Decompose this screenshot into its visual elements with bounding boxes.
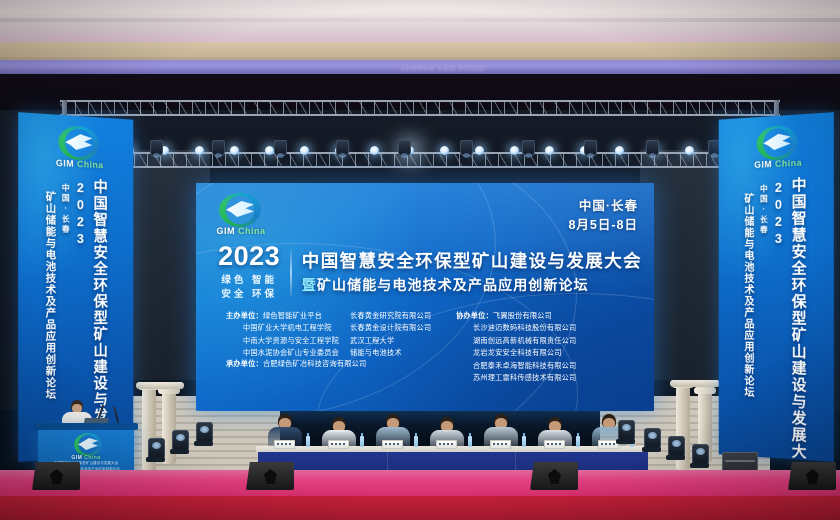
event-location: 中国·长春 xyxy=(568,197,638,216)
conference-sub-title-row: 暨矿山储能与电池技术及产品应用创新论坛 xyxy=(302,277,642,295)
floor-light-base xyxy=(170,449,189,454)
floor-moving-head xyxy=(172,430,189,451)
floor-light-base xyxy=(616,439,635,444)
banner-right-year: 2023 xyxy=(771,180,786,454)
conference-stage-photo: YAMAHA PRO AUDIO GIM China 中国智慧安全环保型矿山建设… xyxy=(0,0,840,520)
host-org-3: 中国水泥协会矿山专业委员会 xyxy=(226,347,350,359)
co-host-org-0: 飞翼股份有限公司 xyxy=(493,311,552,320)
floor-light-base xyxy=(642,447,661,452)
floor-light-base xyxy=(194,441,213,446)
banner-left-subtitle: 矿山储能与电池技术及产品应用创新论坛 xyxy=(43,191,58,455)
floor-moving-head xyxy=(644,428,661,449)
name-plate xyxy=(328,440,349,449)
water-bottle xyxy=(468,436,472,447)
floor-moving-head xyxy=(668,436,685,457)
truss-moving-head xyxy=(522,140,535,156)
truss-moving-head xyxy=(150,140,163,156)
floor-moving-head xyxy=(196,422,213,443)
event-location-date: 中国·长春 8月5日-8日 xyxy=(568,197,638,236)
year-block: 2023 绿色 智能 安全 环保 xyxy=(218,243,280,303)
co-host-org-3: 龙岩龙安安全科技有限公司 xyxy=(456,347,634,359)
red-carpet-foreground xyxy=(0,496,840,520)
name-plate xyxy=(544,440,565,449)
water-bottle xyxy=(576,436,580,447)
water-bottle xyxy=(522,436,526,447)
co-host-org-5: 苏州理工雷科传感技术有限公司 xyxy=(456,372,634,384)
organizers-block: 主办单位：绿色智能矿业平台 中国矿业大学机电工程学院 中南大学资源与安全工程学院… xyxy=(226,310,634,384)
stage-monitor-speaker-4 xyxy=(788,462,836,490)
gim-logo-icon-podium: GIM China xyxy=(68,433,104,463)
co-host-label: 协办单位： xyxy=(456,311,493,320)
title-divider xyxy=(290,250,291,296)
vertical-banner-right: GIM China 中国智慧安全环保型矿山建设与发展大会 2023 中国·长春 … xyxy=(719,112,834,462)
host-org-0: 绿色智能矿业平台 xyxy=(263,311,322,320)
stage-monitor-speaker-1 xyxy=(32,462,80,490)
floor-light-base xyxy=(666,455,685,460)
main-led-screen: GIM China 中国·长春 8月5日-8日 2023 绿色 智能 安全 环保… xyxy=(196,183,654,411)
gim-logo-icon-screen: GIM China xyxy=(212,193,270,241)
stage-floor-carpet xyxy=(0,470,840,496)
event-dates: 8月5日-8日 xyxy=(568,216,638,235)
gim-logo-icon-right-banner: GIM China xyxy=(750,124,801,171)
name-plate xyxy=(436,440,457,449)
stage-monitor-speaker-2 xyxy=(246,462,294,490)
truss-moving-head xyxy=(584,140,597,156)
organizers-column-1: 主办单位：绿色智能矿业平台 中国矿业大学机电工程学院 中南大学资源与安全工程学院… xyxy=(226,310,350,384)
water-bottle xyxy=(360,436,364,447)
name-plate xyxy=(382,440,403,449)
undertaker-org: 合肥绿色矿冶科技咨询有限公司 xyxy=(263,359,366,368)
floor-moving-head xyxy=(148,438,165,459)
host-label: 主办单位： xyxy=(226,311,263,320)
stage-monitor-speaker-3 xyxy=(530,462,578,490)
organizers-column-3: 协办单位：飞翼股份有限公司 长沙迪迈数码科技股份有限公司 湖南创远高新机械有限责… xyxy=(456,310,634,384)
floor-light-base xyxy=(690,463,709,468)
balustrade-rail-right xyxy=(670,380,720,387)
truss-moving-head xyxy=(398,140,411,156)
host-org-4: 长春黄金研究院有限公司 xyxy=(350,310,456,322)
event-year: 2023 xyxy=(218,243,280,270)
co-host-org-4: 合肥泰禾卓海智能科技有限公司 xyxy=(456,360,634,372)
truss-moving-head xyxy=(212,140,225,156)
slogan-line-1: 绿色 智能 xyxy=(218,274,280,288)
undertaker-label: 承办单位： xyxy=(226,359,263,368)
name-plate xyxy=(490,440,511,449)
floor-light-base xyxy=(146,457,165,462)
water-bottle xyxy=(306,436,310,447)
banner-right-location: 中国·长春 xyxy=(759,184,770,452)
floor-moving-head xyxy=(692,444,709,465)
host-org-6: 武汉工程大学 xyxy=(350,335,456,347)
co-host-org-1: 长沙迪迈数码科技股份有限公司 xyxy=(456,322,634,334)
water-bottle xyxy=(414,436,418,447)
gim-logo-icon-left-banner: GIM China xyxy=(51,124,102,171)
organizers-column-2: 长春黄金研究院有限公司 长春黄金设计院有限公司 武汉工程大学 储能与电池技术 xyxy=(350,310,456,384)
co-host-org-2: 湖南创远高新机械有限责任公司 xyxy=(456,335,634,347)
truss-moving-head xyxy=(274,140,287,156)
truss-moving-head xyxy=(460,140,473,156)
host-org-7: 储能与电池技术 xyxy=(350,347,456,359)
balustrade-rail-left xyxy=(136,382,184,389)
screen-title-row: 2023 绿色 智能 安全 环保 中国智慧安全环保型矿山建设与发展大会 暨矿山储… xyxy=(218,243,642,303)
floor-moving-head xyxy=(618,420,635,441)
slogan-line-2: 安全 环保 xyxy=(218,288,280,302)
conference-main-title: 中国智慧安全环保型矿山建设与发展大会 xyxy=(302,251,642,273)
host-org-5: 长春黄金设计院有限公司 xyxy=(350,322,456,334)
host-org-1: 中国矿业大学机电工程学院 xyxy=(226,322,350,334)
truss-moving-head xyxy=(646,140,659,156)
truss-moving-head xyxy=(336,140,349,156)
conference-amp: 暨 xyxy=(302,277,317,293)
conference-sub-title: 矿山储能与电池技术及产品应用创新论坛 xyxy=(317,277,589,293)
banner-right-title: 中国智慧安全环保型矿山建设与发展大会 xyxy=(788,177,809,456)
vertical-banner-right-text: 中国智慧安全环保型矿山建设与发展大会 2023 中国·长春 矿山储能与电池技术及… xyxy=(719,176,834,457)
banner-right-subtitle: 矿山储能与电池技术及产品应用创新论坛 xyxy=(742,193,756,452)
undertaker-row: 承办单位：合肥绿色矿冶科技咨询有限公司 xyxy=(226,359,366,369)
host-org-2: 中南大学资源与安全工程学院 xyxy=(226,335,350,347)
name-plate xyxy=(274,440,295,449)
